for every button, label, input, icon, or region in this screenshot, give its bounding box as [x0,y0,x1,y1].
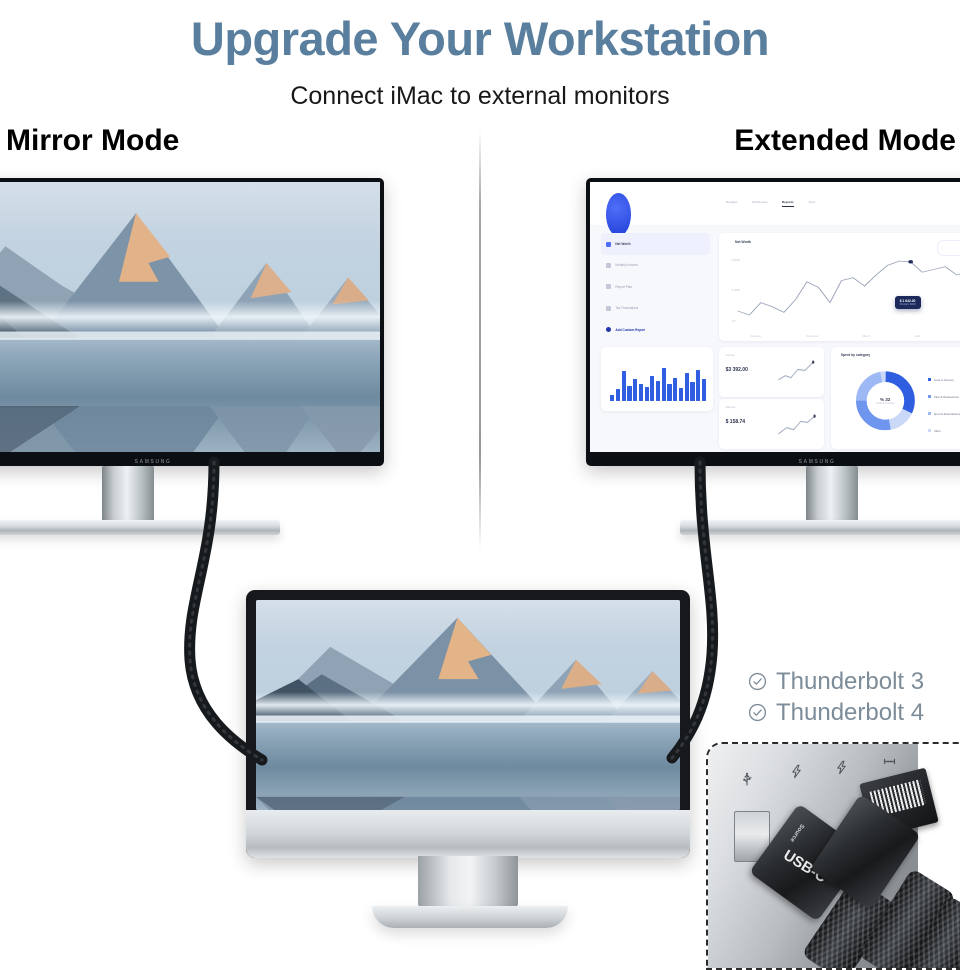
spending-bar-card [601,347,712,412]
sidebar-item-net-worth[interactable]: Net Worth [601,233,710,254]
spent-by-category-card: Spent by category % 32 Food & Grocery [831,347,960,450]
net-worth-card: Net Worth $ 6000 $ 3000 $ 0 $ 1 642.20 1… [719,233,960,341]
right-monitor: Budgets Dashboard Reports Apps Elsa Gibs… [586,178,960,466]
connector-closeup-inset: USB-C Source [706,742,960,970]
sparkline-icon [777,359,819,384]
legend-item: Food & Grocery $ 156.20 [928,371,960,388]
donut-title: Spent by category [841,353,870,357]
tax-icon [606,306,611,311]
net-worth-filter[interactable] [937,240,960,256]
net-worth-tooltip: $ 1 642.20 19 April, 2019 [895,296,921,309]
tab-budgets[interactable]: Budgets [726,200,737,207]
x-tick: December [806,335,818,338]
sidebar-item-report-plan[interactable]: Report Plan [601,276,710,297]
donut-chart: % 32 Food & Grocery [843,369,928,433]
wallpaper-mountain-lake [0,182,380,452]
right-monitor-neck [806,466,858,528]
ethernet-icon [881,753,898,770]
finance-dashboard: Budgets Dashboard Reports Apps Elsa Gibs… [590,182,960,452]
tab-dashboard[interactable]: Dashboard [752,200,767,207]
imac-screen [256,600,680,810]
legend-label: Cafe & Restaurants [934,395,960,399]
wallpaper-mountain-lake [256,600,680,810]
plus-circle-icon [606,327,611,332]
sidebar-item-monthly-income[interactable]: Monthly Income [601,255,710,276]
dashboard-nav-tabs: Budgets Dashboard Reports Apps [726,200,935,207]
sidebar-label: Monthly Income [615,263,638,267]
tab-apps[interactable]: Apps [808,200,815,207]
sparkline-icon [777,412,819,437]
left-monitor-panel: SAMSUNG [0,178,384,466]
donut-legend: Food & Grocery $ 156.20 Cafe & Restauran… [928,371,960,439]
stat-label: Income [726,353,735,357]
legend-label: Other [934,429,960,433]
app-logo-icon[interactable] [606,193,631,236]
sidebar-item-tax-fluctuations[interactable]: Tax Fluctuations [601,298,710,319]
left-monitor-base [0,520,280,535]
feature-label: Thunderbolt 3 [776,668,924,696]
sidebar-label: Net Worth [615,242,630,246]
poster-canvas: Upgrade Your Workstation Connect iMac to… [0,0,960,960]
x-tick: March [863,335,870,338]
spending-bars [610,366,706,401]
feature-label: Thunderbolt 4 [776,699,924,727]
right-monitor-panel: Budgets Dashboard Reports Apps Elsa Gibs… [586,178,960,466]
sidebar-label: Report Plan [615,285,632,289]
check-circle-icon [748,703,767,722]
stat-card-savings: Savings $ 158.74 [719,399,823,449]
imac-stand-neck [418,856,518,910]
sidebar-label: Add Custom Report [615,328,645,332]
stat-value: $3 392.00 [726,367,748,373]
left-monitor-screen [0,182,380,452]
thunderbolt-icon [789,764,804,779]
right-monitor-brand: SAMSUNG [586,459,960,465]
feature-list: Thunderbolt 3 Thunderbolt 4 [748,666,924,728]
check-circle-icon [748,672,767,691]
stat-label: Savings [726,405,736,409]
imac-chin [246,810,690,858]
left-monitor-neck [102,466,154,528]
legend-item: Other $ 32.00 [928,422,960,439]
thunderbolt-icon [834,760,849,775]
legend-item: Cafe & Restaurants $ 98.40 [928,388,960,405]
sidebar-label: Tax Fluctuations [615,306,638,310]
left-monitor-brand: SAMSUNG [0,459,384,465]
source-label: Source [788,823,804,843]
mirror-mode-label: Mirror Mode [6,124,179,158]
right-monitor-screen: Budgets Dashboard Reports Apps Elsa Gibs… [590,182,960,452]
tab-reports[interactable]: Reports [782,200,794,207]
stat-value: $ 158.74 [726,419,745,425]
net-worth-title: Net Worth [735,240,751,244]
right-monitor-base [680,520,960,535]
donut-center: % 32 Food & Grocery [843,369,928,433]
legend-label: Sport & Entertainment [934,412,960,416]
sidebar-item-add-custom-report[interactable]: Add Custom Report [601,319,710,340]
chart-icon [606,242,611,247]
usb-icon [739,771,755,787]
feature-thunderbolt-4: Thunderbolt 4 [748,697,924,728]
report-icon [606,284,611,289]
page-subtitle: Connect iMac to external monitors [0,82,960,111]
page-title: Upgrade Your Workstation [0,14,960,63]
x-tick: April [915,335,920,338]
tooltip-date: 19 April, 2019 [900,303,916,306]
donut-caption: Food & Grocery [876,402,894,405]
section-divider [479,130,481,550]
stat-card-income: Income $3 392.00 [719,347,823,397]
feature-thunderbolt-3: Thunderbolt 3 [748,666,924,697]
legend-label: Food & Grocery [934,378,960,382]
left-monitor: SAMSUNG [0,178,384,466]
x-tick: February [751,335,762,338]
net-worth-line [732,257,960,326]
net-worth-x-axis: February December March April May June [751,335,960,338]
imac-stand-foot [372,906,568,928]
income-icon [606,263,611,268]
legend-item: Sport & Entertainment $ 54.10 [928,405,960,422]
imac-panel [246,590,690,858]
extended-mode-label: Extended Mode [734,124,956,158]
center-imac [246,590,690,858]
